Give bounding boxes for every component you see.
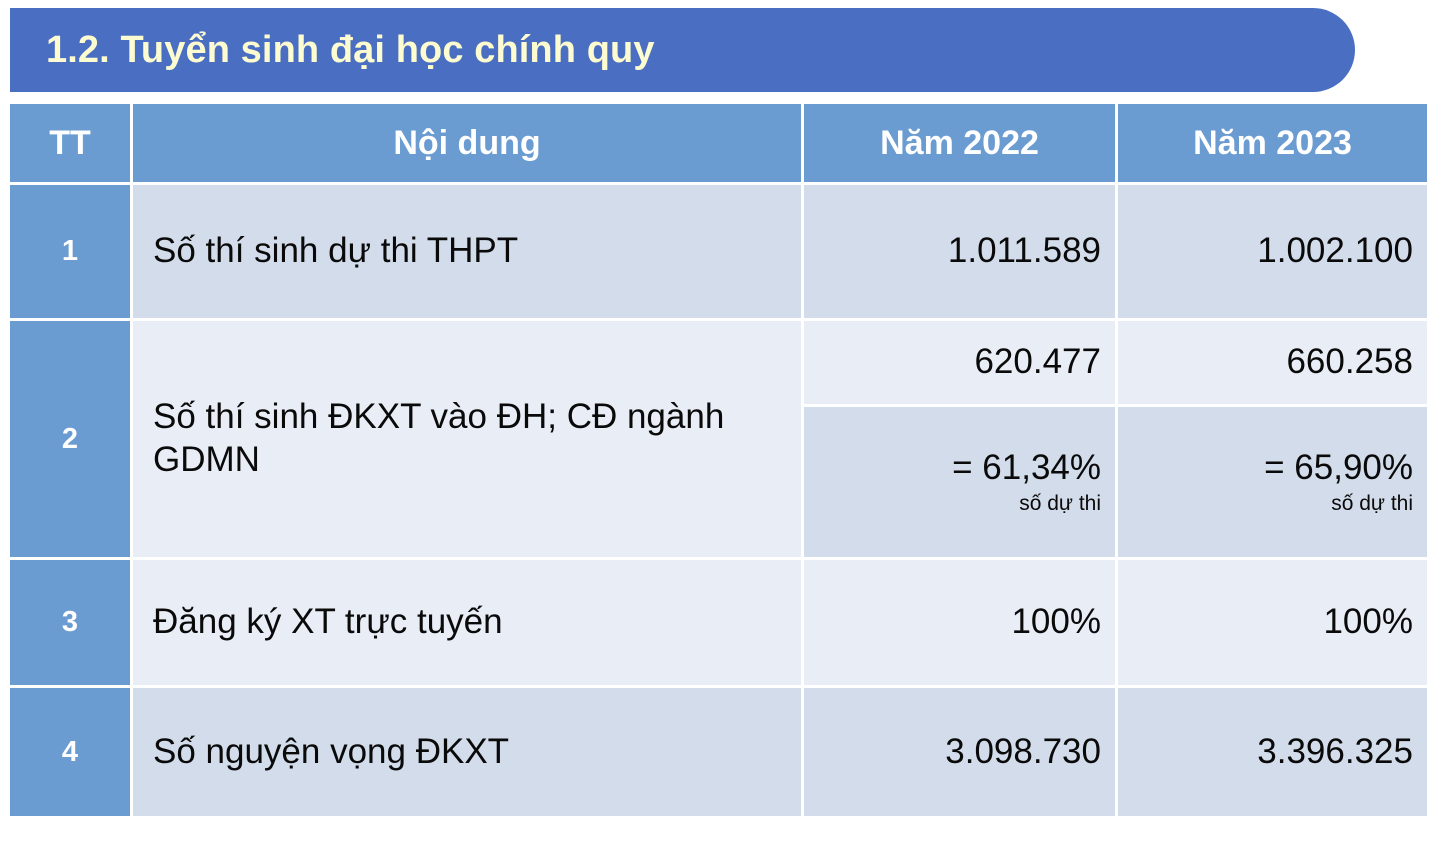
row-value-2022: 620.477 — [804, 321, 1115, 404]
column-header-noi-dung: Nội dung — [133, 104, 801, 182]
table-header-row: TT Nội dung Năm 2022 Năm 2023 — [10, 104, 1427, 182]
row-value-2022-stack: 620.477 = 61,34% số dự thi — [804, 321, 1115, 557]
row-value-2022: 3.098.730 — [804, 688, 1115, 816]
row-value-2022-percent: = 61,34% số dự thi — [804, 407, 1115, 557]
row-index-cell: 1 — [10, 185, 130, 318]
table-row: 3 Đăng ký XT trực tuyến 100% 100% — [10, 560, 1427, 685]
row-index-cell: 2 — [10, 321, 130, 557]
row-value-2022: 1.011.589 — [804, 185, 1115, 318]
column-header-year-2022: Năm 2022 — [804, 104, 1115, 182]
row-label-cell: Số thí sinh dự thi THPT — [133, 185, 801, 318]
table-row: 1 Số thí sinh dự thi THPT 1.011.589 1.00… — [10, 185, 1427, 318]
row-value-2023: 1.002.100 — [1118, 185, 1427, 318]
data-table: TT Nội dung Năm 2022 Năm 2023 1 Số thí s… — [10, 104, 1427, 816]
row-label-cell: Số thí sinh ĐKXT vào ĐH; CĐ ngành GDMN — [133, 321, 801, 557]
row-index-cell: 3 — [10, 560, 130, 685]
row-value-2023-percent: = 65,90% số dự thi — [1118, 407, 1427, 557]
column-header-year-2023: Năm 2023 — [1118, 104, 1427, 182]
row-value-2023: 100% — [1118, 560, 1427, 685]
table-row: 4 Số nguyện vọng ĐKXT 3.098.730 3.396.32… — [10, 688, 1427, 816]
row-index-cell: 4 — [10, 688, 130, 816]
slide-title-banner: 1.2. Tuyển sinh đại học chính quy — [10, 8, 1355, 92]
slide-canvas: 1.2. Tuyển sinh đại học chính quy TT Nội… — [0, 0, 1450, 842]
percent-basis-note: số dự thi — [1331, 491, 1413, 516]
row-label-cell: Đăng ký XT trực tuyến — [133, 560, 801, 685]
row-value-2023-stack: 660.258 = 65,90% số dự thi — [1118, 321, 1427, 557]
table-row: 2 Số thí sinh ĐKXT vào ĐH; CĐ ngành GDMN… — [10, 321, 1427, 557]
percent-value: = 65,90% — [1264, 448, 1413, 488]
page-title: 1.2. Tuyển sinh đại học chính quy — [46, 31, 655, 69]
row-value-2023: 660.258 — [1118, 321, 1427, 404]
percent-basis-note: số dự thi — [1019, 491, 1101, 516]
row-value-2022: 100% — [804, 560, 1115, 685]
percent-value: = 61,34% — [952, 448, 1101, 488]
column-header-tt: TT — [10, 104, 130, 182]
row-value-2023: 3.396.325 — [1118, 688, 1427, 816]
row-label-cell: Số nguyện vọng ĐKXT — [133, 688, 801, 816]
